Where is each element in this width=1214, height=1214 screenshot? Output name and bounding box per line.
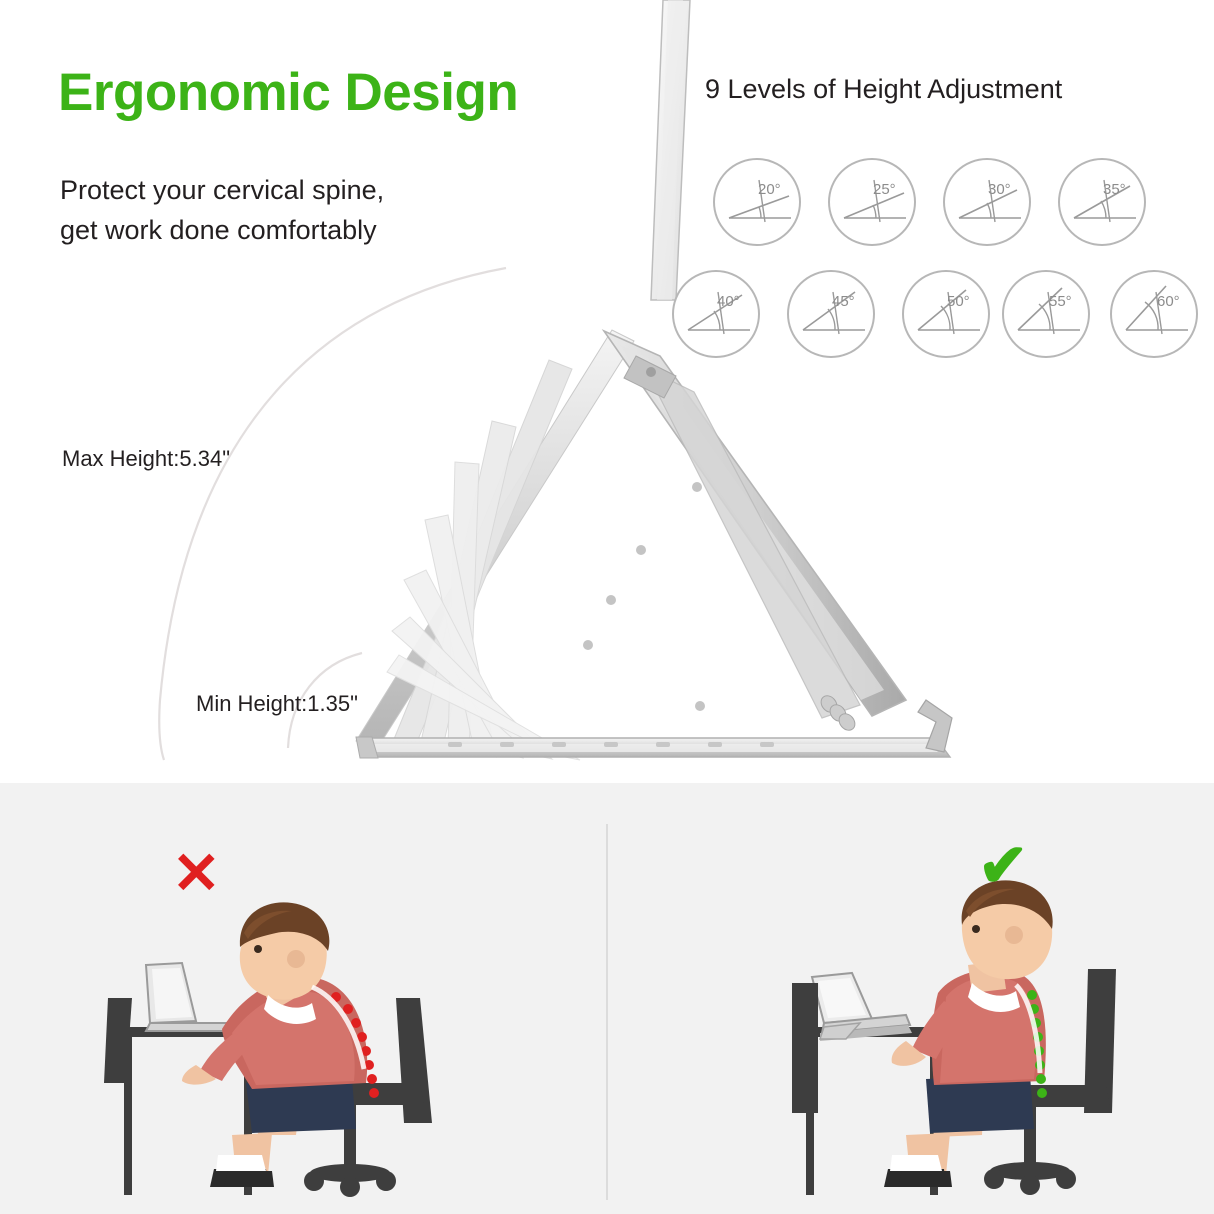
max-height-label: Max Height:5.34" xyxy=(62,446,230,472)
angle-label: 60° xyxy=(1157,293,1180,310)
angle-badge-50: 50° xyxy=(902,270,990,358)
wrong-mark-icon: ✕ xyxy=(172,845,221,903)
angle-label: 50° xyxy=(947,293,970,310)
scene-divider xyxy=(606,824,608,1200)
angle-diagram-50-icon xyxy=(904,272,992,360)
angle-badge-30: 30° xyxy=(943,158,1031,246)
angle-diagram-20-icon xyxy=(715,160,803,248)
angle-badge-20: 20° xyxy=(713,158,801,246)
angle-diagram-55-icon xyxy=(1004,272,1092,360)
angle-label: 30° xyxy=(988,181,1011,198)
angle-diagram-40-icon xyxy=(674,272,762,360)
angle-badge-40: 40° xyxy=(672,270,760,358)
check-mark-icon: ✔ xyxy=(978,836,1028,896)
page-title: Ergonomic Design xyxy=(58,62,518,123)
angle-label: 35° xyxy=(1103,181,1126,198)
subtitle-text: Protect your cervical spine, get work do… xyxy=(60,170,384,250)
angle-diagram-35-icon xyxy=(1060,160,1148,248)
angle-diagram-60-icon xyxy=(1112,272,1200,360)
angle-diagram-45-icon xyxy=(789,272,877,360)
levels-heading: 9 Levels of Height Adjustment xyxy=(705,74,1062,105)
angle-badge-60: 60° xyxy=(1110,270,1198,358)
angle-diagram-25-icon xyxy=(830,160,918,248)
min-height-label: Min Height:1.35" xyxy=(196,691,358,717)
angle-badge-25: 25° xyxy=(828,158,916,246)
angle-badge-55: 55° xyxy=(1002,270,1090,358)
top-panel: Ergonomic Design Protect your cervical s… xyxy=(0,0,1214,777)
angle-label: 45° xyxy=(832,293,855,310)
angle-label: 40° xyxy=(717,293,740,310)
bad-posture-figure xyxy=(104,902,432,1197)
good-posture-figure xyxy=(792,880,1116,1195)
angle-label: 55° xyxy=(1049,293,1072,310)
angle-diagram-30-icon xyxy=(945,160,1033,248)
angle-badge-45: 45° xyxy=(787,270,875,358)
angle-label: 20° xyxy=(758,181,781,198)
product-infographic: Ergonomic Design Protect your cervical s… xyxy=(0,0,1214,1214)
angle-label: 25° xyxy=(873,181,896,198)
angle-badge-35: 35° xyxy=(1058,158,1146,246)
